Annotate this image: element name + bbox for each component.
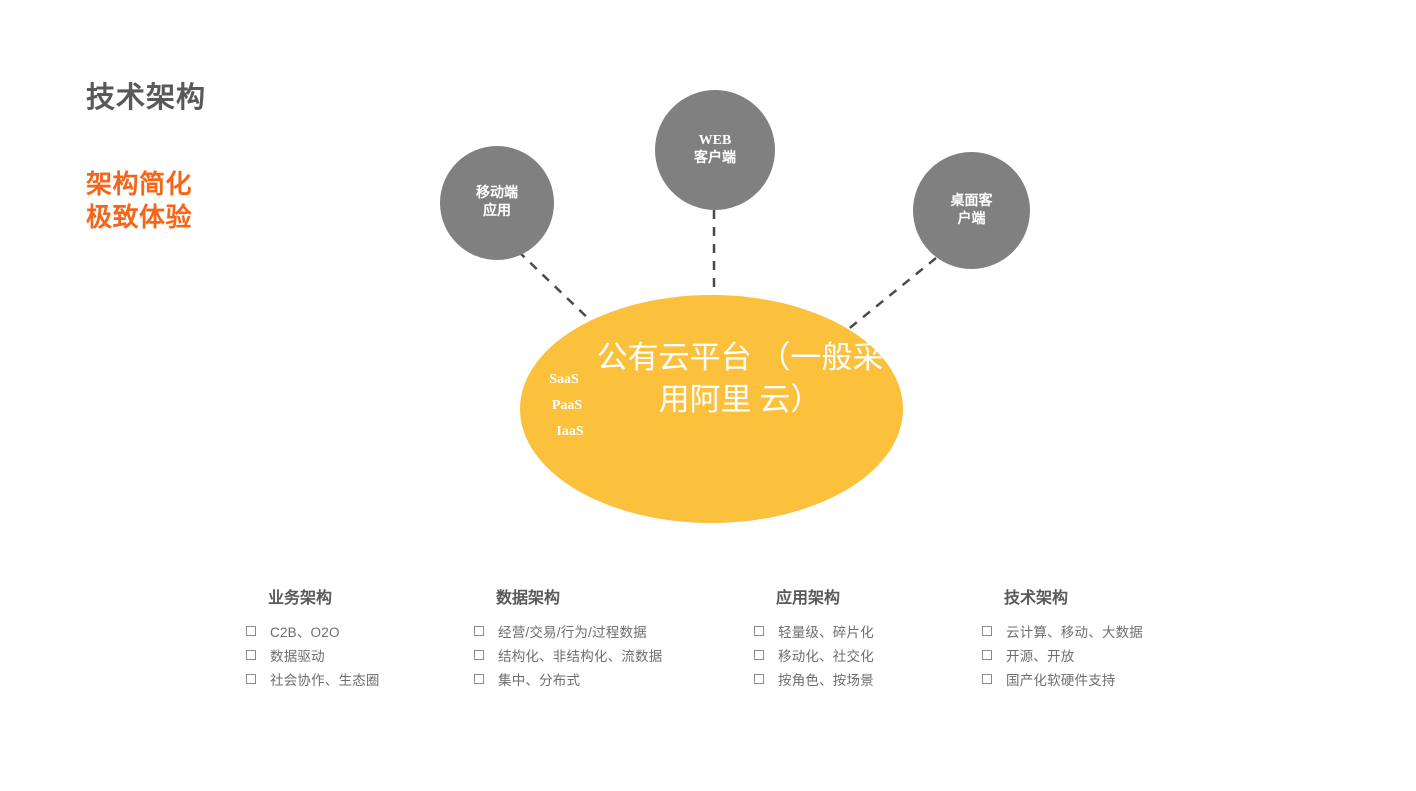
bullet-square-icon [754, 650, 764, 660]
client-node-desktop[interactable]: 桌面客 户端 [913, 152, 1030, 269]
list-item: C2B、O2O [240, 619, 468, 643]
page-subtitle: 架构简化 极致体验 [86, 168, 192, 234]
list-item-label: 云计算、移动、大数据 [1006, 621, 1143, 641]
list-item-label: 开源、开放 [1006, 645, 1075, 665]
bullet-square-icon [982, 626, 992, 636]
client-node-mobile[interactable]: 移动端 应用 [440, 146, 554, 260]
page-title: 技术架构 [86, 74, 206, 116]
bullet-square-icon [474, 674, 484, 684]
list-item-label: 经营/交易/行为/过程数据 [498, 621, 647, 641]
list-item: 集中、分布式 [468, 667, 748, 691]
list-item: 数据驱动 [240, 643, 468, 667]
architecture-column-business: 业务架构 C2B、O2O 数据驱动 社会协作、生态圈 [240, 584, 468, 691]
list-item-label: 按角色、按场景 [778, 669, 874, 689]
client-node-web[interactable]: WEB 客户端 [655, 90, 775, 210]
bullet-square-icon [474, 626, 484, 636]
page-subtitle-line-1: 架构简化 [86, 168, 192, 201]
bullet-square-icon [982, 650, 992, 660]
page-subtitle-line-2: 极致体验 [86, 201, 192, 234]
bullet-square-icon [982, 674, 992, 684]
list-item: 社会协作、生态圈 [240, 667, 468, 691]
list-item-label: 国产化软硬件支持 [1006, 669, 1116, 689]
architecture-column-technology: 技术架构 云计算、移动、大数据 开源、开放 国产化软硬件支持 [976, 584, 1256, 691]
column-title-business: 业务架构 [268, 584, 468, 608]
list-item: 经营/交易/行为/过程数据 [468, 619, 748, 643]
list-item: 国产化软硬件支持 [976, 667, 1256, 691]
client-node-desktop-line-2: 户端 [951, 211, 993, 229]
list-item-label: 结构化、非结构化、流数据 [498, 645, 662, 665]
list-item: 云计算、移动、大数据 [976, 619, 1256, 643]
architecture-column-data: 数据架构 经营/交易/行为/过程数据 结构化、非结构化、流数据 集中、分布式 [468, 584, 748, 691]
list-item-label: 数据驱动 [270, 645, 325, 665]
list-item: 结构化、非结构化、流数据 [468, 643, 748, 667]
client-node-desktop-line-1: 桌面客 [951, 193, 993, 211]
architecture-columns: 业务架构 C2B、O2O 数据驱动 社会协作、生态圈 数据架构 经营/交易/行为… [240, 584, 1370, 691]
connector-desktop-to-cloud [846, 258, 936, 331]
bullet-square-icon [754, 674, 764, 684]
list-item-label: 社会协作、生态圈 [270, 669, 380, 689]
cloud-label-line-1: 公有云平台 [597, 340, 752, 375]
connector-mobile-to-cloud [518, 251, 593, 323]
cloud-label-line-3: 云） [759, 382, 821, 417]
client-node-web-line-2: 客户端 [694, 150, 736, 168]
list-item: 轻量级、碎片化 [748, 619, 976, 643]
list-item: 按角色、按场景 [748, 667, 976, 691]
cloud-layer-saas: SaaS [528, 367, 600, 393]
column-title-application: 应用架构 [776, 584, 976, 608]
public-cloud-ellipse[interactable]: SaaS PaaS IaaS 公有云平台 （一般采用阿里 云） [520, 295, 903, 523]
column-title-technology: 技术架构 [1004, 584, 1256, 608]
client-node-mobile-line-1: 移动端 [476, 185, 518, 203]
slide-canvas: 技术架构 架构简化 极致体验 移动端 应用 WEB 客户端 桌面客 户端 Saa… [0, 0, 1416, 791]
cloud-layer-paas: PaaS [528, 393, 600, 419]
bullet-square-icon [754, 626, 764, 636]
bullet-square-icon [246, 650, 256, 660]
bullet-square-icon [246, 674, 256, 684]
client-node-web-line-1: WEB [694, 132, 736, 150]
list-item: 开源、开放 [976, 643, 1256, 667]
list-item-label: 集中、分布式 [498, 669, 580, 689]
cloud-label: 公有云平台 （一般采用阿里 云） [595, 337, 885, 421]
list-item-label: 移动化、社交化 [778, 645, 874, 665]
architecture-column-application: 应用架构 轻量级、碎片化 移动化、社交化 按角色、按场景 [748, 584, 976, 691]
client-node-mobile-line-2: 应用 [476, 203, 518, 221]
column-title-data: 数据架构 [496, 584, 748, 608]
cloud-layer-iaas: IaaS [528, 419, 600, 445]
list-item-label: 轻量级、碎片化 [778, 621, 874, 641]
bullet-square-icon [246, 626, 256, 636]
bullet-square-icon [474, 650, 484, 660]
cloud-service-layers: SaaS PaaS IaaS [528, 367, 600, 445]
list-item-label: C2B、O2O [270, 621, 340, 641]
list-item: 移动化、社交化 [748, 643, 976, 667]
